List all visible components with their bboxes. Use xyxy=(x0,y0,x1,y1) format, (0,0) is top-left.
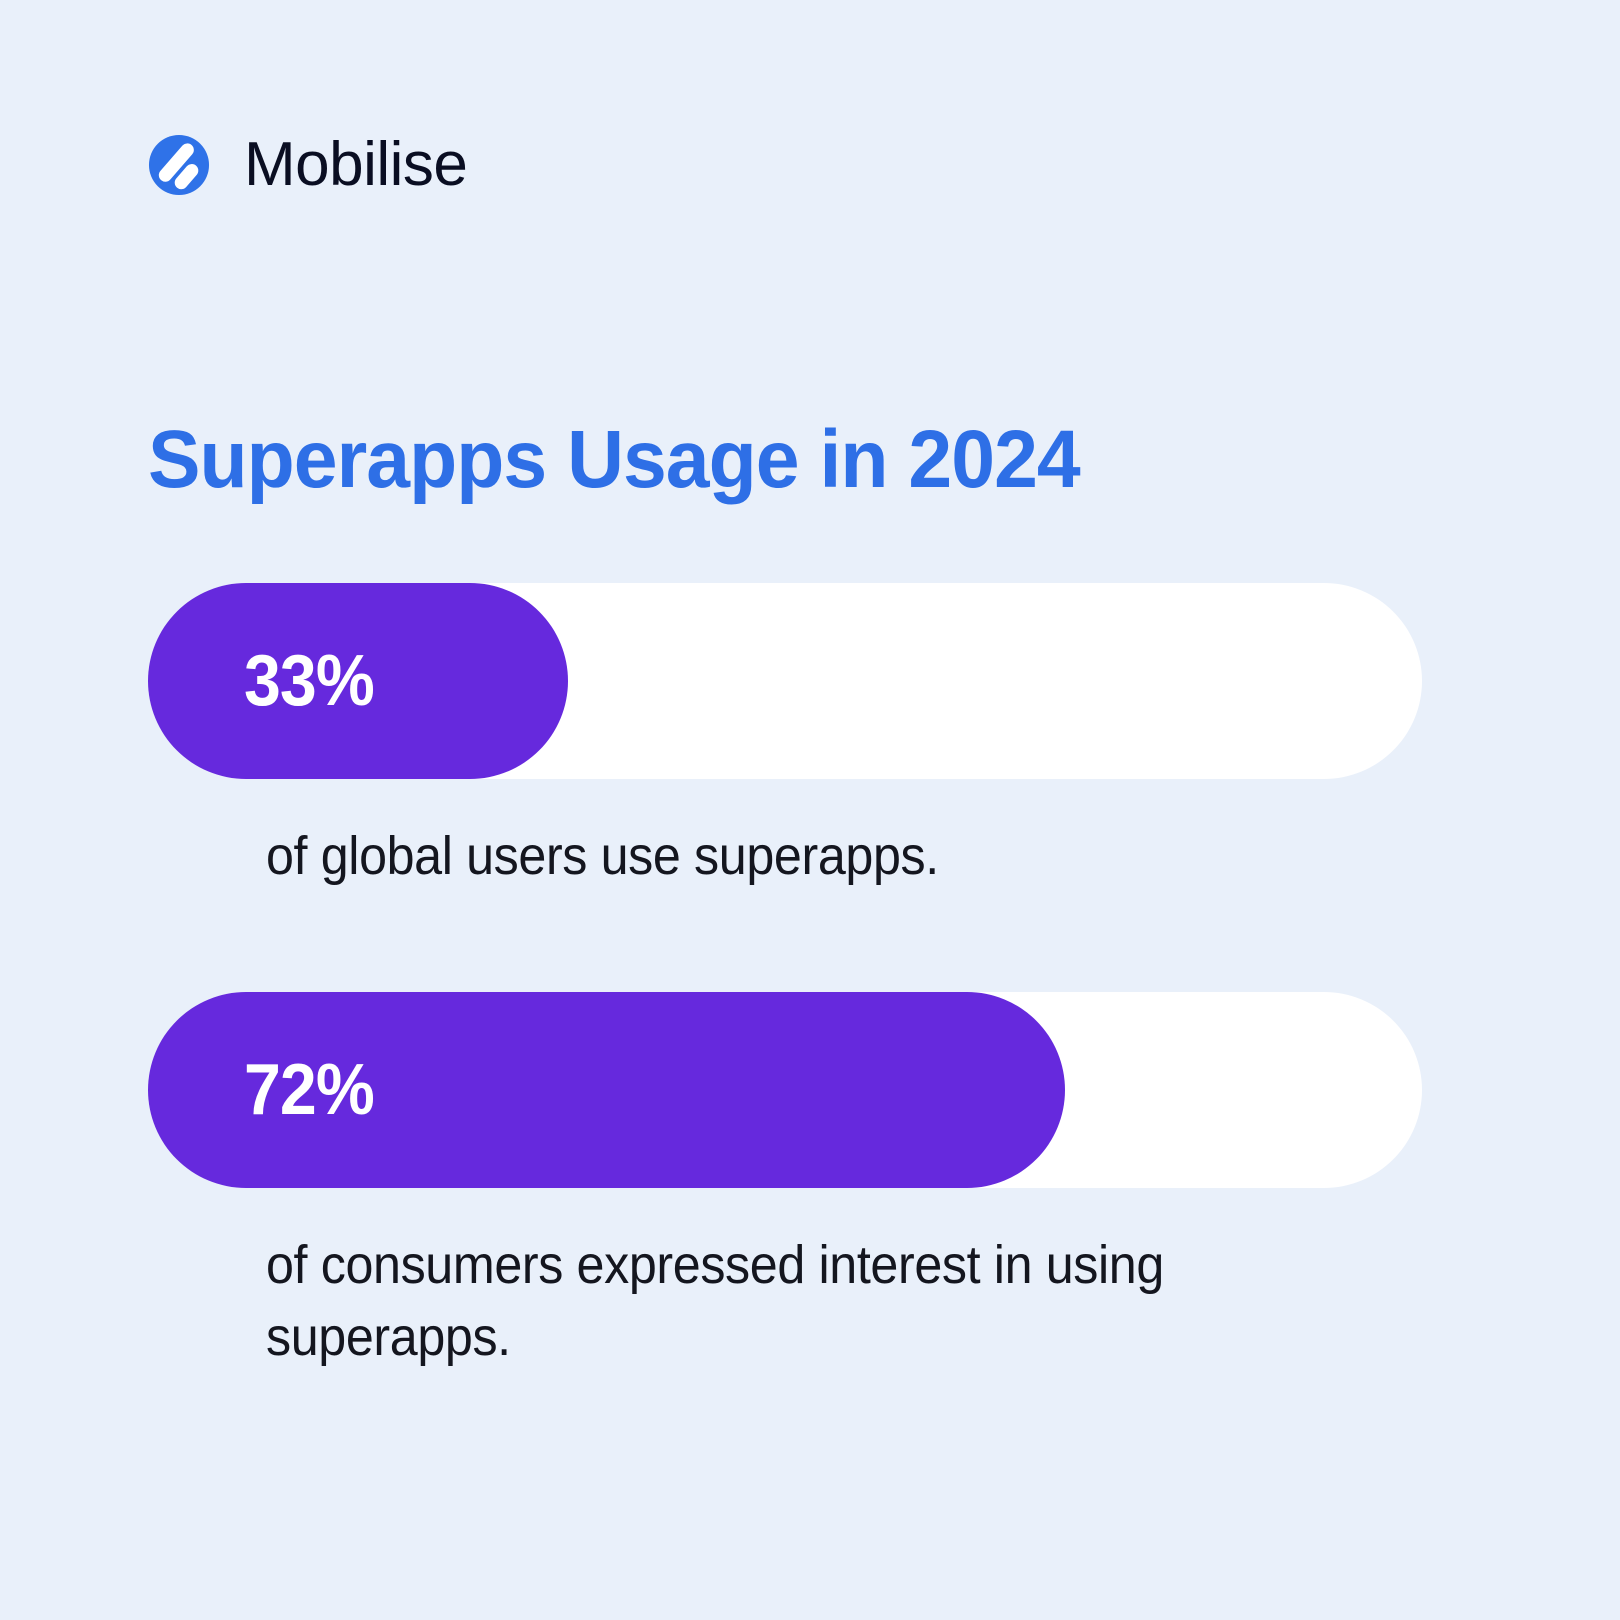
stats-list: 33% of global users use superapps. 72% o… xyxy=(148,583,1422,1427)
stat-caption: of global users use superapps. xyxy=(266,821,1196,892)
progress-track: 72% xyxy=(148,992,1422,1188)
progress-value-label: 33% xyxy=(244,645,374,717)
brand-name: Mobilise xyxy=(244,134,467,196)
brand-lockup: Mobilise xyxy=(148,134,467,196)
page-title: Superapps Usage in 2024 xyxy=(148,415,1425,505)
mobilise-logo-icon xyxy=(148,134,210,196)
stat-caption: of consumers expressed interest in using… xyxy=(266,1230,1196,1373)
infographic-canvas: Mobilise Superapps Usage in 2024 33% of … xyxy=(0,0,1620,1620)
progress-fill: 72% xyxy=(148,992,1065,1188)
progress-fill: 33% xyxy=(148,583,568,779)
stat-row: 72% of consumers expressed interest in u… xyxy=(148,992,1422,1373)
stat-row: 33% of global users use superapps. xyxy=(148,583,1422,892)
progress-track: 33% xyxy=(148,583,1422,779)
progress-value-label: 72% xyxy=(244,1054,374,1126)
